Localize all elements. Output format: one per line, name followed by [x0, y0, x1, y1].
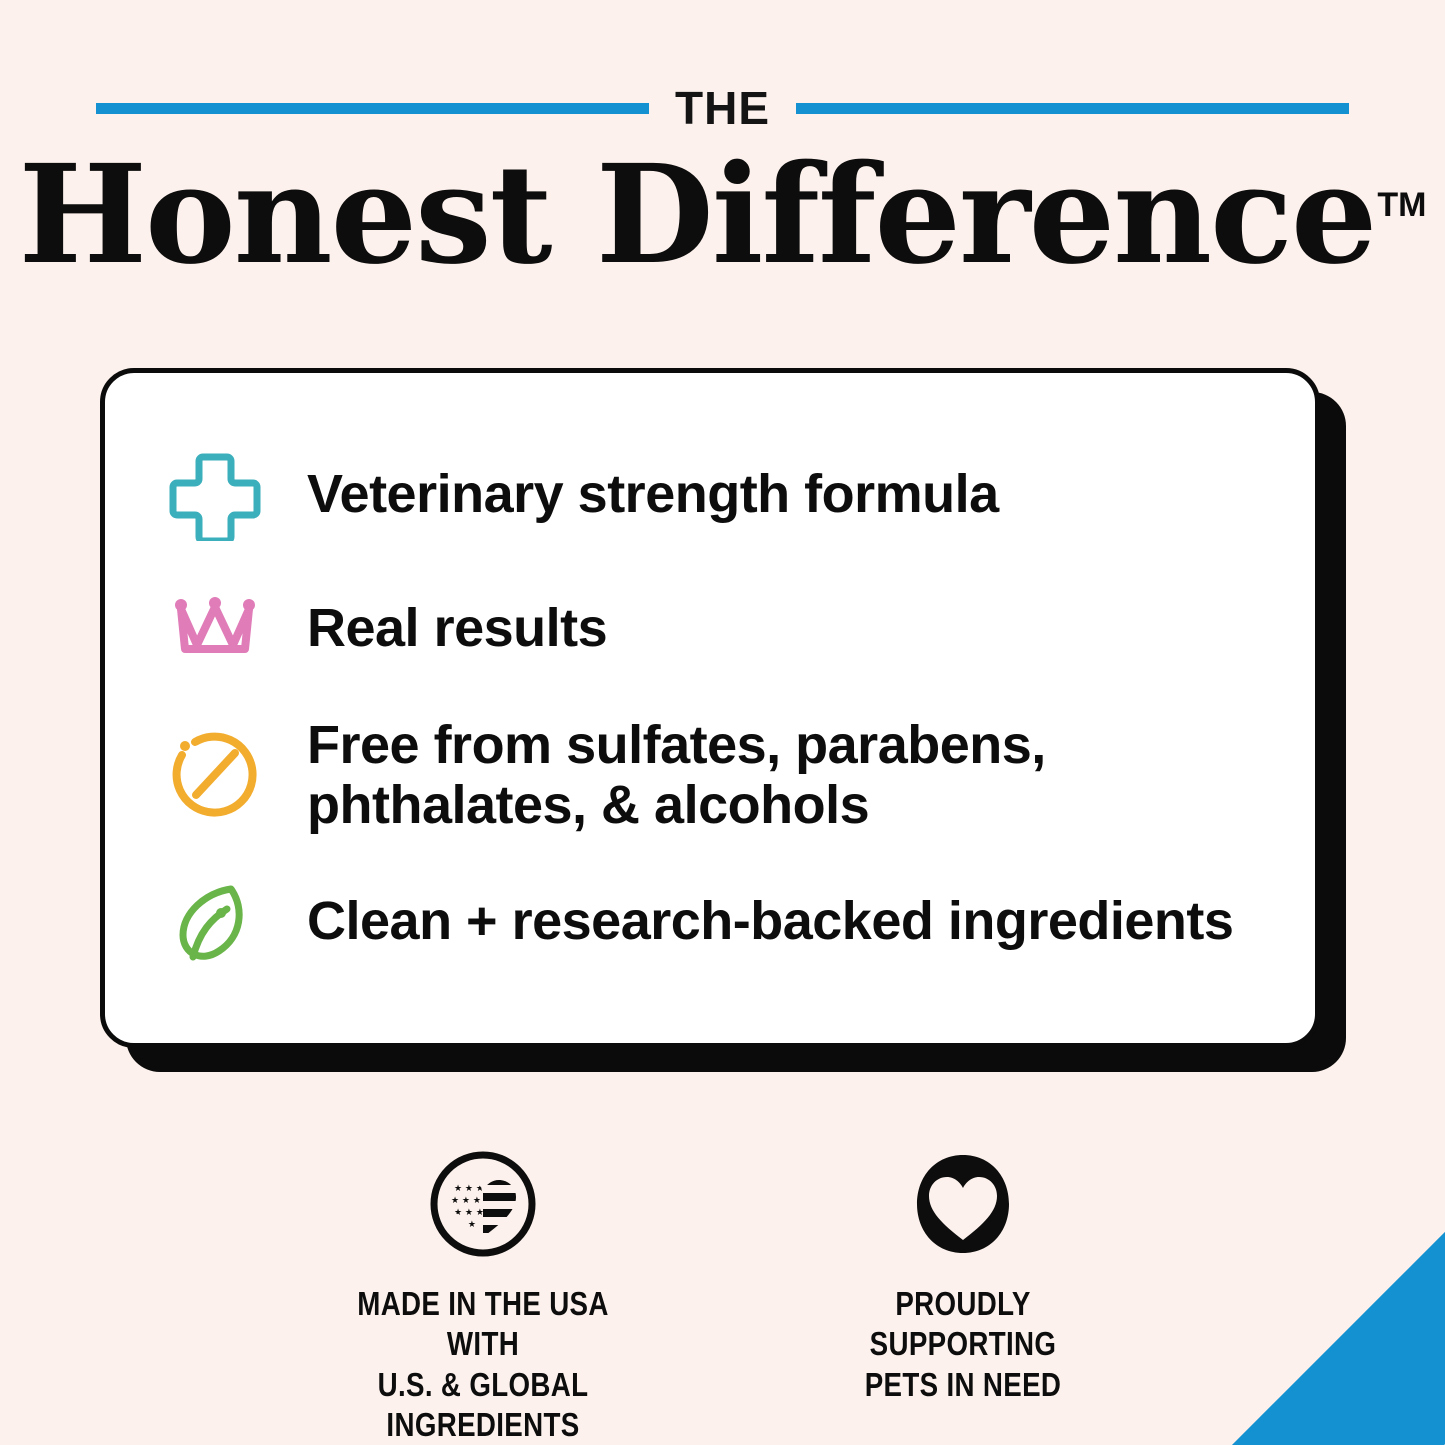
leaf-icon: [167, 873, 263, 969]
badge-made-in-usa: ★ ★ ★ ★ ★ ★ ★ ★ ★ ★ ★ ★ MADE IN THE USA …: [318, 1140, 648, 1445]
badge-pets-in-need: PROUDLY SUPPORTINGPETS IN NEED: [798, 1140, 1128, 1445]
usa-flag-heart-icon: ★ ★ ★ ★ ★ ★ ★ ★ ★ ★ ★ ★: [424, 1140, 542, 1268]
crown-icon: [167, 581, 263, 677]
feature-label: Clean + research-backed ingredients: [307, 891, 1233, 951]
heart-circle-icon: [904, 1140, 1022, 1268]
feature-item: Free from sulfates, parabens, phthalates…: [167, 715, 1257, 836]
svg-text:★ ★ ★: ★ ★ ★: [454, 1208, 484, 1218]
feature-card-stack: Veterinary strength formula Real results: [100, 368, 1320, 1048]
svg-text:★ ★: ★ ★: [457, 1220, 476, 1230]
feature-label: Free from sulfates, parabens, phthalates…: [307, 715, 1257, 836]
feature-label: Real results: [307, 598, 607, 658]
feature-item: Real results: [167, 581, 1257, 677]
badge-label: MADE IN THE USA WITHU.S. & GLOBAL INGRED…: [344, 1284, 621, 1445]
feature-item: Veterinary strength formula: [167, 447, 1257, 543]
rule-left: [96, 103, 649, 114]
svg-text:★: ★: [462, 1230, 470, 1240]
rule-right: [796, 103, 1349, 114]
svg-text:★ ★ ★: ★ ★ ★: [451, 1196, 481, 1206]
feature-label: Veterinary strength formula: [307, 464, 999, 524]
wordmark-text: Honest Difference: [19, 135, 1376, 295]
badge-label: PROUDLY SUPPORTINGPETS IN NEED: [824, 1284, 1101, 1405]
trust-badges: ★ ★ ★ ★ ★ ★ ★ ★ ★ ★ ★ ★ MADE IN THE USA …: [0, 1140, 1445, 1445]
feature-item: Clean + research-backed ingredients: [167, 873, 1257, 969]
page-title: Honest DifferenceTM: [0, 144, 1445, 287]
badge-line-2: U.S. & GLOBAL INGREDIENTS: [377, 1366, 588, 1443]
medical-cross-icon: [167, 447, 263, 543]
header: THE Honest DifferenceTM: [0, 0, 1445, 287]
svg-text:★ ★ ★: ★ ★ ★: [454, 1184, 484, 1194]
badge-line-2: PETS IN NEED: [864, 1366, 1061, 1403]
prohibited-icon: [167, 727, 263, 823]
feature-card: Veterinary strength formula Real results: [100, 368, 1320, 1048]
badge-line-1: MADE IN THE USA WITH: [357, 1285, 608, 1362]
trademark-symbol: TM: [1377, 186, 1426, 224]
eyebrow-row: THE: [0, 78, 1445, 138]
badge-line-1: PROUDLY SUPPORTING: [869, 1285, 1056, 1362]
eyebrow-label: THE: [675, 85, 770, 131]
